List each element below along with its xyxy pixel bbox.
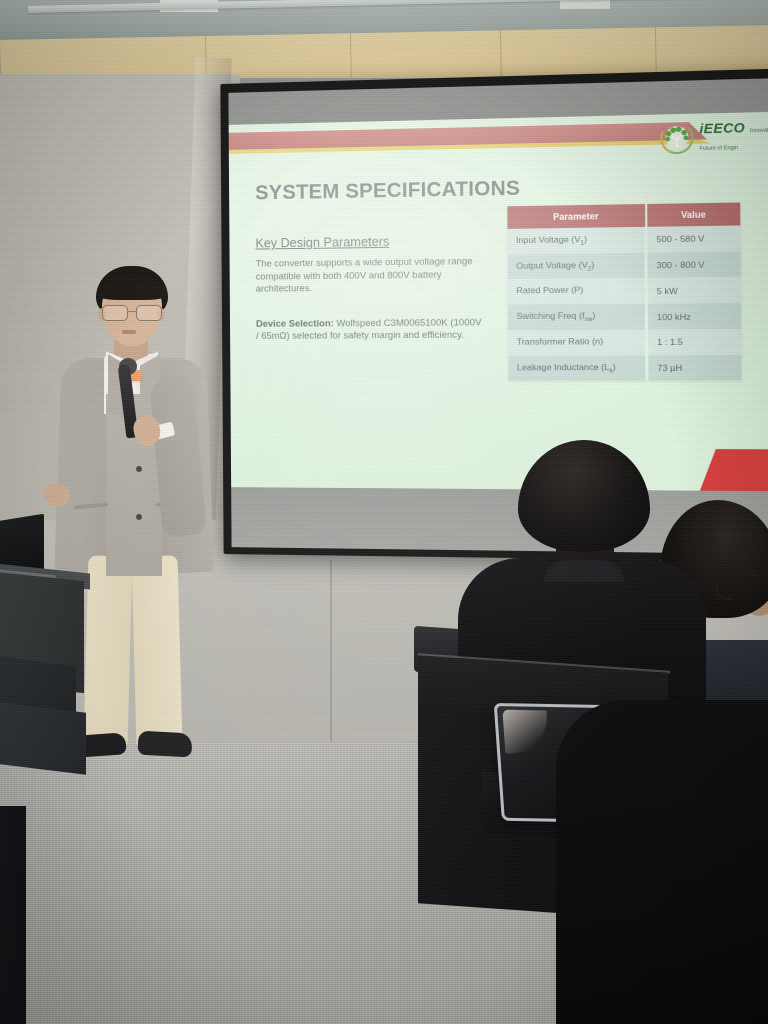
photograph-scene: iEECO Innovating the Future of Engin SYS…	[0, 0, 768, 1024]
presentation-slide: iEECO Innovating the Future of Engin SYS…	[229, 111, 768, 491]
eyeglasses-temple-icon	[716, 570, 732, 600]
presenter-shoe-right	[137, 731, 192, 758]
presenter-trouser-left	[84, 555, 133, 746]
table-row: Input Voltage (V1) 500 - 580 V	[507, 225, 740, 254]
key-design-parameters-heading: Key Design Parameters	[255, 233, 482, 250]
cell-value: 100 kHz	[647, 303, 741, 329]
cell-parameter: Transformer Ratio (n)	[508, 329, 647, 355]
presenter-trouser-right	[132, 555, 183, 746]
key-design-parameters-body: The converter supports a wide output vol…	[256, 255, 483, 296]
slide-title: SYSTEM SPECIFICATIONS	[255, 177, 520, 205]
column-header-value: Value	[646, 202, 740, 226]
slide-left-column: Key Design Parameters The converter supp…	[255, 233, 483, 343]
presenter-jacket-button	[136, 514, 142, 520]
table-row: Leakage Inductance (Lk) 73 µH	[508, 355, 741, 381]
table-row: Output Voltage (V2) 300 - 800 V	[508, 251, 741, 279]
audience-hair	[518, 440, 650, 552]
tree-circle-icon	[658, 120, 695, 156]
specifications-table: Parameter Value Input Voltage (V1) 500 -…	[507, 202, 741, 380]
cell-value: 5 kW	[646, 277, 740, 304]
presenter	[52, 266, 232, 786]
column-header-parameter: Parameter	[507, 204, 646, 229]
table-body: Input Voltage (V1) 500 - 580 V Output Vo…	[507, 225, 741, 380]
audience-collar	[544, 560, 624, 582]
presenter-jacket-button	[136, 466, 142, 472]
cell-value: 1 : 1.5	[647, 329, 741, 355]
cell-parameter: Input Voltage (V1)	[507, 227, 646, 254]
ceiling-light-panel	[560, 0, 610, 9]
cell-parameter: Switching Freq (fsw)	[508, 304, 647, 330]
cell-parameter: Leakage Inductance (Lk)	[508, 355, 647, 381]
table-row: Transformer Ratio (n) 1 : 1.5	[508, 329, 741, 356]
slide-accent-shape	[716, 449, 768, 491]
cell-parameter: Output Voltage (V2)	[508, 252, 647, 279]
logo-tagline-line2: Future of Engin	[700, 145, 739, 152]
presenter-mouth	[122, 330, 136, 334]
table-header-row: Parameter Value	[507, 202, 740, 228]
table-row: Rated Power (P) 5 kW	[508, 277, 741, 305]
device-selection-block: Device Selection: Wolfspeed C3M0065100K …	[256, 316, 483, 343]
cell-value: 300 - 800 V	[646, 251, 740, 278]
seat	[0, 699, 86, 775]
audience-member-foreground	[556, 700, 768, 1024]
cell-parameter: Rated Power (P)	[508, 278, 647, 305]
table-row: Switching Freq (fsw) 100 kHz	[508, 303, 741, 330]
device-selection-label: Device Selection:	[256, 318, 334, 329]
logo-tagline-line1: Innovating the	[750, 127, 768, 134]
cell-value: 73 µH	[647, 355, 741, 381]
cell-value: 500 - 580 V	[646, 225, 740, 252]
ieeco-logo: iEECO Innovating the Future of Engin	[658, 118, 768, 156]
logo-name: iEECO	[699, 120, 745, 137]
eyeglasses-icon	[101, 305, 163, 319]
seat	[0, 806, 26, 1024]
